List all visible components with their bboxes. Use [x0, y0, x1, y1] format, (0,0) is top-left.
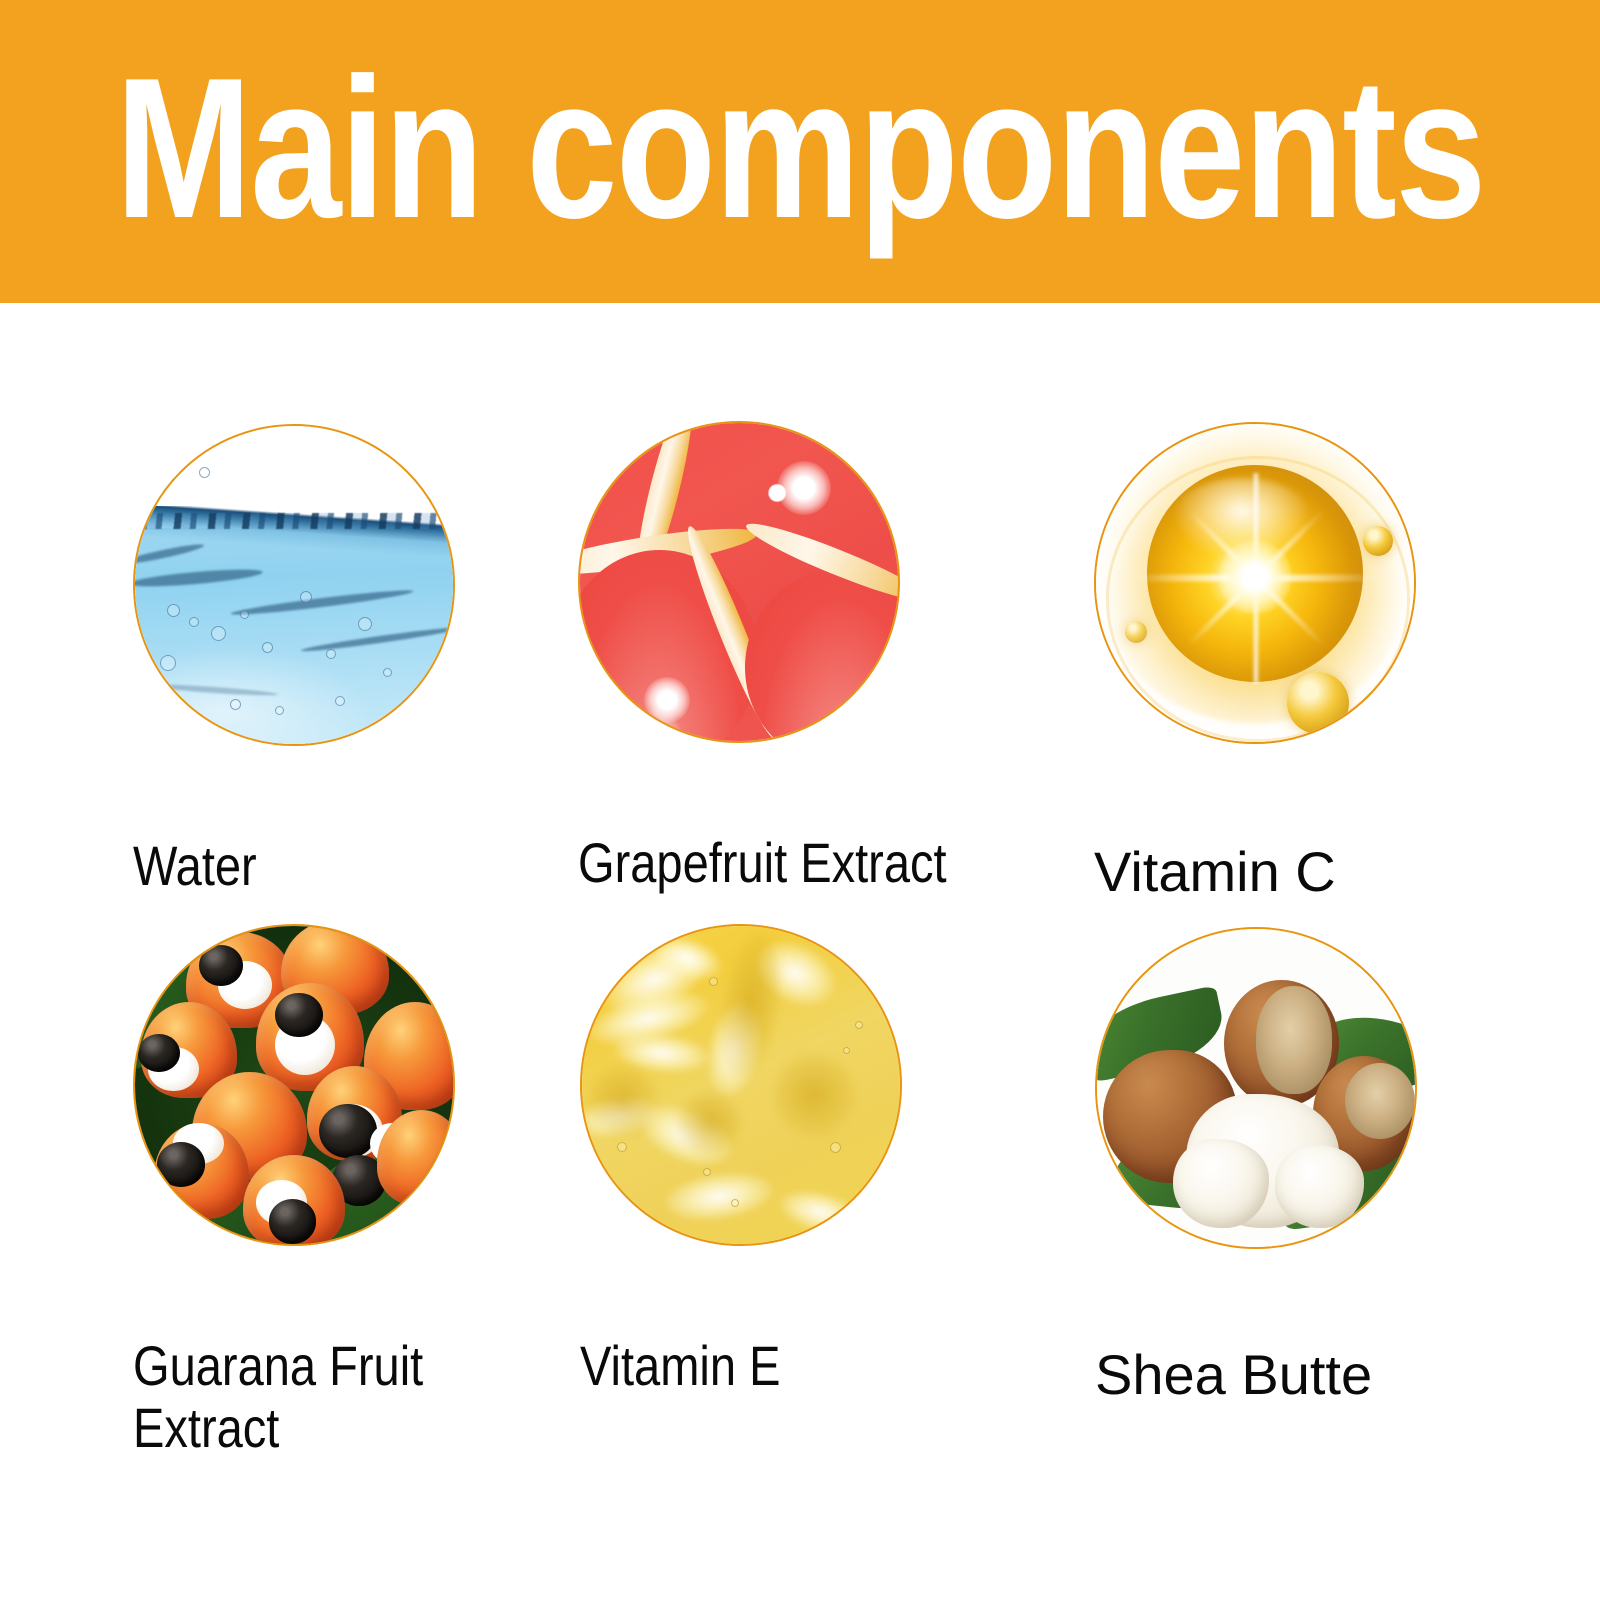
component-label-text: Water: [133, 835, 257, 898]
component-label-vitamin-e: Vitamin E: [580, 1272, 1100, 1397]
golden-glowing-sphere-photo: [1096, 424, 1414, 742]
components-grid: Water Grapefruit Extract: [0, 303, 1600, 1600]
component-label-water: Water: [133, 772, 653, 897]
component-card-shea-butter[interactable]: Shea Butte: [1095, 927, 1600, 1406]
component-image-shea-butter: [1095, 927, 1417, 1249]
component-label-text: Grapefruit Extract: [578, 832, 947, 895]
shea-nuts-and-butter-photo: [1097, 929, 1415, 1247]
component-label-text: Guarana Fruit Extract: [133, 1335, 423, 1460]
component-label-text: Vitamin E: [580, 1335, 780, 1398]
golden-oil-photo: [582, 926, 900, 1244]
component-label-text: Shea Butte: [1095, 1343, 1372, 1406]
component-image-vitamin-c: [1094, 422, 1416, 744]
component-label-grapefruit-extract: Grapefruit Extract: [578, 769, 1098, 894]
component-card-water[interactable]: Water: [133, 424, 653, 897]
water-splash-photo: [135, 426, 453, 744]
component-label-text: Vitamin C: [1094, 840, 1336, 903]
component-image-vitamin-e: [580, 924, 902, 1246]
component-label-vitamin-c: Vitamin C: [1094, 778, 1600, 903]
component-image-grapefruit-extract: [578, 421, 900, 743]
component-card-vitamin-c[interactable]: Vitamin C: [1094, 422, 1600, 903]
page-title: Main components: [115, 61, 1484, 237]
component-label-guarana-fruit-extract: Guarana Fruit Extract: [133, 1272, 653, 1460]
grapefruit-slices-photo: [580, 423, 898, 741]
component-image-guarana-fruit-extract: [133, 924, 455, 1246]
component-image-water: [133, 424, 455, 746]
guarana-fruit-photo: [135, 926, 453, 1244]
component-label-shea-butter: Shea Butte: [1095, 1281, 1600, 1406]
component-card-grapefruit-extract[interactable]: Grapefruit Extract: [578, 421, 1098, 894]
header-banner: Main components: [0, 0, 1600, 303]
component-card-guarana-fruit-extract[interactable]: Guarana Fruit Extract: [133, 924, 653, 1460]
component-card-vitamin-e[interactable]: Vitamin E: [580, 924, 1100, 1397]
